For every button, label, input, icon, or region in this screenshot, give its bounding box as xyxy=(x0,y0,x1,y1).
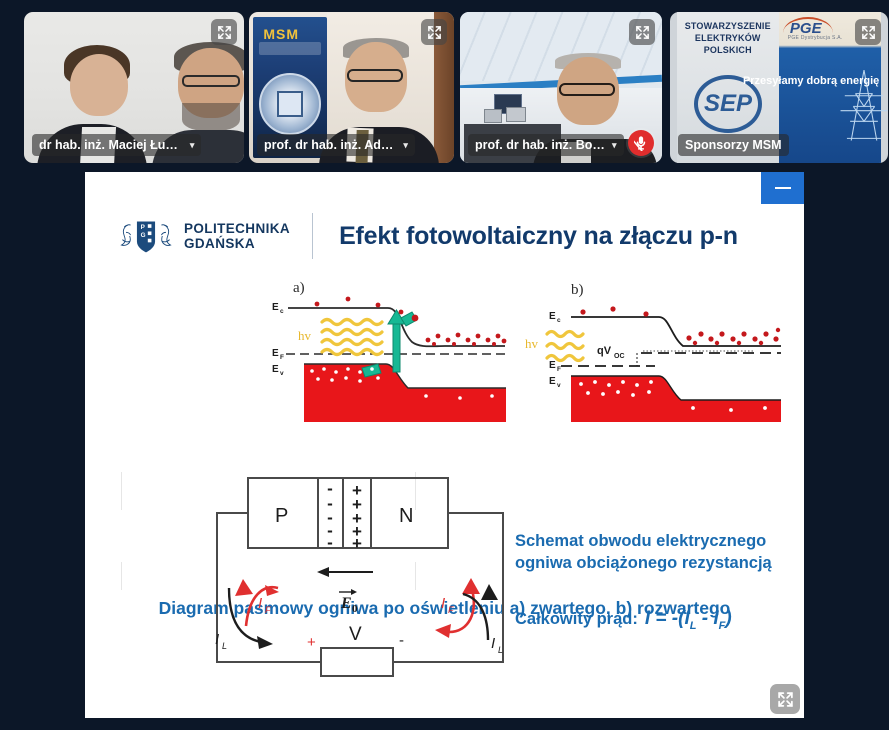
decor xyxy=(121,472,122,510)
svg-text:0: 0 xyxy=(352,603,358,615)
decor xyxy=(70,54,128,116)
slide-header: PG POLITECHNIKA GDAŃSKA Efekt fotowoltai… xyxy=(85,204,804,268)
svg-text:F: F xyxy=(557,366,561,373)
right-text-line2: ogniwa obciążonego rezystancją xyxy=(515,552,790,574)
svg-text:+: + xyxy=(307,634,316,651)
svg-text:hv: hv xyxy=(525,336,539,351)
video-tile-3[interactable]: prof. dr hab. inż. Boh… ▾ xyxy=(460,12,662,163)
shared-slide-panel: PG POLITECHNIKA GDAŃSKA Efekt fotowoltai… xyxy=(85,172,804,718)
pge-logo-sub: PGE Dystrybucja S.A. xyxy=(788,35,843,41)
fullscreen-expand-icon[interactable] xyxy=(770,684,800,714)
svg-text:OC: OC xyxy=(614,353,625,360)
svg-text:-: - xyxy=(327,533,333,552)
svg-text:v: v xyxy=(280,370,284,377)
participant-name-4[interactable]: Sponsorzy MSM xyxy=(678,134,789,156)
svg-text:P: P xyxy=(141,224,145,231)
slide-right-text: Schemat obwodu elektrycznego ogniwa obci… xyxy=(515,530,790,632)
participant-name-label: dr hab. inż. Maciej Łuszc… xyxy=(39,138,184,152)
total-current-formula: Całkowity prąd: I = -(IL - IF) xyxy=(515,608,790,632)
svg-text:I: I xyxy=(215,631,219,648)
politechnika-gdanska-logo: PG POLITECHNIKA GDAŃSKA xyxy=(117,216,290,256)
svg-text:E: E xyxy=(272,348,279,359)
right-text-line1: Schemat obwodu elektrycznego xyxy=(515,530,790,552)
decor xyxy=(347,69,403,82)
svg-text:E: E xyxy=(549,360,556,371)
video-tile-2[interactable]: MSM prof. dr hab. inż. Adam K… ▾ xyxy=(249,12,454,163)
svg-text:v: v xyxy=(557,382,561,389)
decor xyxy=(259,42,321,55)
decor xyxy=(484,109,502,123)
politechnika-gdanska-crest-icon: PG xyxy=(117,216,175,256)
minimize-icon xyxy=(775,187,791,189)
svg-text:E: E xyxy=(549,376,556,387)
expand-arrows-icon[interactable] xyxy=(629,19,655,45)
participant-name-label: prof. dr hab. inż. Adam K… xyxy=(264,138,397,152)
svg-text:b): b) xyxy=(571,282,584,298)
pge-slogan: Przesyłamy dobrą energię xyxy=(743,75,879,88)
svg-text:+: + xyxy=(352,534,362,553)
chevron-down-icon[interactable]: ▾ xyxy=(612,140,617,151)
voltage-label: V xyxy=(349,624,362,645)
band-diagram-a: a) E c E F E v hv xyxy=(260,274,520,422)
conference-app-window: dr hab. inż. Maciej Łuszc… ▾ MSM xyxy=(0,0,889,730)
decor xyxy=(506,107,526,122)
participant-name-2[interactable]: prof. dr hab. inż. Adam K… ▾ xyxy=(257,134,415,156)
svg-text:E: E xyxy=(340,595,352,612)
svg-text:qV: qV xyxy=(597,345,612,357)
sep-poster-text: STOWARZYSZENIE ELEKTRYKÓW POLSKICH xyxy=(679,20,777,56)
svg-text:F: F xyxy=(280,354,284,361)
logo-line2: GDAŃSKA xyxy=(184,236,290,251)
expand-arrows-icon[interactable] xyxy=(211,19,237,45)
svg-text:a): a) xyxy=(293,280,305,296)
band-diagram-b: b) E c E F E v hv qV OC xyxy=(513,274,788,422)
expand-arrows-icon[interactable] xyxy=(421,19,447,45)
circuit-diagram: P N --- -- +++ ++ E 0 xyxy=(203,472,523,684)
banner-title-label: MSM xyxy=(263,26,299,42)
formula-expression: I = -(IL - IF) xyxy=(645,608,732,632)
chevron-down-icon[interactable]: ▾ xyxy=(190,140,195,151)
logo-line1: POLITECHNIKA xyxy=(184,221,290,236)
video-tile-1[interactable]: dr hab. inż. Maciej Łuszc… ▾ xyxy=(24,12,244,163)
p-region-label: P xyxy=(275,505,288,527)
n-region-label: N xyxy=(399,505,413,527)
svg-text:F: F xyxy=(265,605,271,615)
svg-text:I: I xyxy=(258,595,262,612)
sep-poster-line2: ELEKTRYKÓW POLSKICH xyxy=(679,32,777,56)
decor xyxy=(277,91,303,117)
participant-name-label: prof. dr hab. inż. Boh… xyxy=(475,138,606,152)
formula-prefix: Całkowity prąd: xyxy=(515,610,638,629)
svg-text:E: E xyxy=(549,311,556,322)
svg-text:E: E xyxy=(272,364,279,375)
svg-text:E: E xyxy=(272,302,279,313)
svg-text:G: G xyxy=(141,232,146,239)
decor xyxy=(182,75,240,87)
logo-text: POLITECHNIKA GDAŃSKA xyxy=(184,221,290,251)
svg-text:L: L xyxy=(222,641,227,651)
svg-text:F: F xyxy=(448,605,454,615)
svg-text:I: I xyxy=(441,595,445,612)
svg-text:L: L xyxy=(498,645,503,655)
minimize-button[interactable] xyxy=(761,172,804,204)
band-diagram-figures: a) E c E F E v hv xyxy=(85,274,804,422)
svg-text:I: I xyxy=(491,635,495,652)
participant-name-3[interactable]: prof. dr hab. inż. Boh… ▾ xyxy=(468,134,624,156)
slide-title: Efekt fotowoltaiczny na złączu p-n xyxy=(339,222,738,251)
expand-arrows-icon[interactable] xyxy=(855,19,881,45)
decor xyxy=(182,103,240,131)
svg-text:hv: hv xyxy=(298,328,312,343)
svg-text:c: c xyxy=(557,317,561,324)
microphone-muted-icon[interactable] xyxy=(628,130,654,156)
decor xyxy=(259,73,321,135)
video-tile-4[interactable]: STOWARZYSZENIE ELEKTRYKÓW POLSKICH SEP P… xyxy=(670,12,888,163)
svg-text:c: c xyxy=(280,308,284,315)
participant-name-label: Sponsorzy MSM xyxy=(685,138,782,152)
sep-poster-line1: STOWARZYSZENIE xyxy=(679,20,777,32)
decor xyxy=(559,83,615,96)
svg-text:-: - xyxy=(399,632,404,649)
header-divider xyxy=(312,213,313,259)
video-tile-strip: dr hab. inż. Maciej Łuszc… ▾ MSM xyxy=(0,0,889,168)
decor xyxy=(121,562,122,590)
participant-name-1[interactable]: dr hab. inż. Maciej Łuszc… ▾ xyxy=(32,134,201,156)
chevron-down-icon[interactable]: ▾ xyxy=(403,140,408,151)
